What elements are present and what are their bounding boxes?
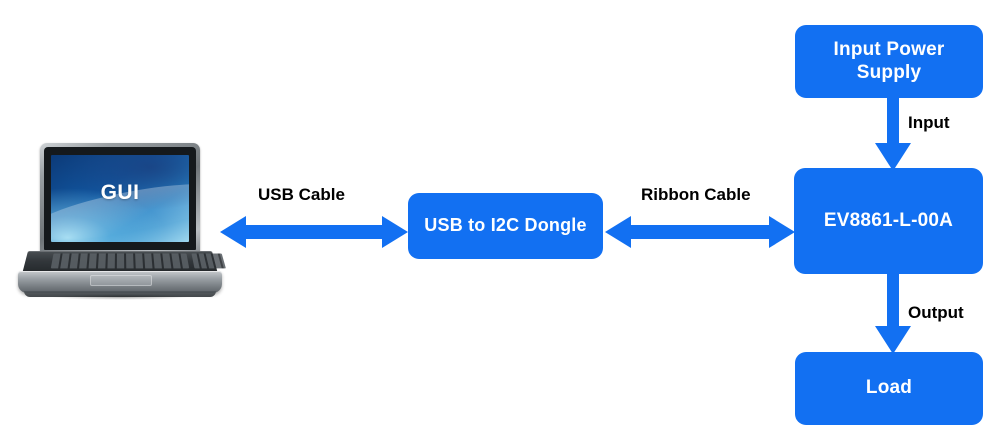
- block-ev8861-l-00a[interactable]: EV8861-L-00A: [794, 168, 983, 274]
- laptop-keyboard: [51, 254, 189, 269]
- double-arrow-horizontal-icon-usb: [220, 212, 408, 252]
- diagram-canvas: GUI USB Cable USB to I2C Dongle Ribbon C…: [0, 0, 1004, 446]
- laptop-lid: GUI: [40, 143, 200, 255]
- arrow-down-icon-input: [875, 97, 911, 171]
- block-input-power-supply[interactable]: Input Power Supply: [795, 25, 983, 98]
- connector-label-input: Input: [908, 113, 950, 133]
- laptop-numpad: [191, 254, 225, 269]
- double-arrow-horizontal-icon-ribbon: [605, 212, 795, 252]
- laptop-bezel: GUI: [44, 147, 196, 250]
- gui-screen-label: GUI: [101, 181, 140, 205]
- laptop-screen: GUI: [51, 155, 189, 242]
- block-usb-to-i2c-dongle[interactable]: USB to I2C Dongle: [408, 193, 603, 259]
- laptop-palmrest: [18, 271, 222, 293]
- arrow-down-icon-output: [875, 274, 911, 354]
- block-label-load: Load: [866, 377, 912, 399]
- connector-label-ribbon-cable: Ribbon Cable: [641, 185, 751, 205]
- laptop-base: [14, 251, 226, 297]
- block-label-ev8861-l-00a: EV8861-L-00A: [824, 210, 953, 232]
- laptop-icon: GUI: [14, 143, 226, 308]
- laptop-trackpad: [90, 275, 152, 286]
- laptop-shadow: [24, 293, 216, 301]
- block-label-dongle: USB to I2C Dongle: [424, 215, 586, 236]
- block-load[interactable]: Load: [795, 352, 983, 425]
- connector-label-usb-cable: USB Cable: [258, 185, 345, 205]
- block-label-input-power-supply: Input Power Supply: [803, 39, 975, 84]
- connector-label-output: Output: [908, 303, 964, 323]
